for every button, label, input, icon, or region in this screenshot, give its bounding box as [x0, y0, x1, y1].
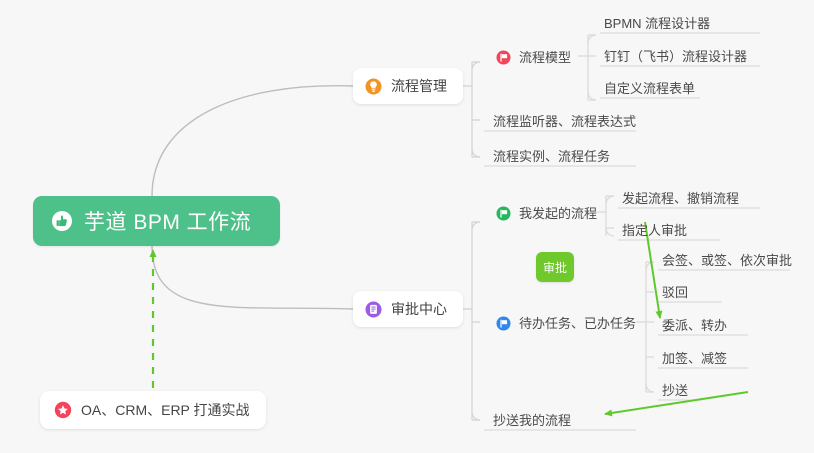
node-cc[interactable]: 抄送: [658, 377, 692, 403]
node-custom-process-form[interactable]: 自定义流程表单: [600, 75, 699, 101]
card-integration-practice[interactable]: OA、CRM、ERP 打通实战: [40, 391, 266, 429]
lightbulb-icon: [365, 78, 382, 95]
flag-icon-red: [496, 50, 511, 65]
node-label-delegate-transfer: 委派、转办: [662, 319, 727, 332]
node-label-bpmn-designer: BPMN 流程设计器: [604, 17, 710, 30]
node-label-process-model: 流程模型: [519, 51, 571, 64]
flag-icon-green: [496, 206, 511, 221]
card-integration-label: OA、CRM、ERP 打通实战: [81, 400, 250, 420]
connector-root-to-approval: [152, 246, 353, 309]
connector-initiated-bracket-curve: [606, 196, 614, 236]
annotation-badge-label: 审批: [543, 259, 567, 276]
node-label-my-initiated-processes: 我发起的流程: [519, 207, 597, 220]
node-bpmn-designer[interactable]: BPMN 流程设计器: [600, 10, 714, 36]
connector-approval-bracket: [463, 222, 480, 420]
connector-process-bracket: [463, 62, 480, 157]
branch-node-approval-center[interactable]: 审批中心: [353, 291, 463, 327]
connector-model-bracket-curve: [588, 35, 596, 100]
node-label-process-listener-expression: 流程监听器、流程表达式: [493, 115, 636, 128]
node-my-initiated-processes[interactable]: 我发起的流程: [492, 200, 601, 226]
connector-process-bracket-curve: [472, 62, 480, 157]
node-delegate-transfer[interactable]: 委派、转办: [658, 312, 731, 338]
clipboard-icon: [365, 301, 382, 318]
node-assigned-approver[interactable]: 指定人审批: [618, 217, 691, 243]
flag-icon-blue: [496, 316, 511, 331]
branch-node-process-management[interactable]: 流程管理: [353, 68, 463, 104]
node-reject[interactable]: 驳回: [658, 279, 692, 305]
node-label-cc-to-me-processes: 抄送我的流程: [493, 414, 571, 427]
node-process-model[interactable]: 流程模型: [492, 44, 575, 70]
node-dingtalk-feishu-designer[interactable]: 钉钉（飞书）流程设计器: [600, 43, 751, 69]
node-todo-done-tasks[interactable]: 待办任务、已办任务: [492, 310, 640, 336]
node-start-cancel-process[interactable]: 发起流程、撤销流程: [618, 185, 743, 211]
node-label-cc: 抄送: [662, 384, 688, 397]
node-label-dingtalk-feishu-designer: 钉钉（飞书）流程设计器: [604, 50, 747, 63]
node-label-add-remove-sign: 加签、减签: [662, 352, 727, 365]
thumbs-up-icon: [51, 210, 73, 232]
node-label-todo-done-tasks: 待办任务、已办任务: [519, 317, 636, 330]
connector-tasks-bracket-curve: [646, 262, 654, 392]
node-process-instance-task[interactable]: 流程实例、流程任务: [489, 143, 614, 169]
node-process-listener-expression[interactable]: 流程监听器、流程表达式: [489, 108, 640, 134]
star-icon: [54, 401, 72, 419]
branch-label-approval-center: 审批中心: [391, 299, 447, 319]
node-cc-to-me-processes[interactable]: 抄送我的流程: [489, 407, 575, 433]
node-label-reject: 驳回: [662, 286, 688, 299]
mindmap-canvas: 芋道 BPM 工作流 流程管理 流程模型 BPMN 流程设计器 钉钉（飞书: [0, 0, 814, 453]
node-add-remove-sign[interactable]: 加签、减签: [658, 345, 731, 371]
annotation-badge-approval: 审批: [536, 252, 574, 282]
node-label-custom-process-form: 自定义流程表单: [604, 82, 695, 95]
node-label-process-instance-task: 流程实例、流程任务: [493, 150, 610, 163]
branch-label-process-management: 流程管理: [391, 76, 447, 96]
root-node[interactable]: 芋道 BPM 工作流: [33, 196, 280, 246]
node-label-countersign-or-sign-sequential: 会签、或签、依次审批: [662, 254, 792, 267]
connector-approval-bracket-curve: [472, 222, 480, 420]
node-label-start-cancel-process: 发起流程、撤销流程: [622, 192, 739, 205]
root-label: 芋道 BPM 工作流: [84, 206, 251, 236]
connector-root-to-process: [152, 86, 353, 196]
node-label-assigned-approver: 指定人审批: [622, 224, 687, 237]
node-countersign-or-sign-sequential[interactable]: 会签、或签、依次审批: [658, 247, 796, 273]
connector-model-bracket: [578, 35, 596, 100]
